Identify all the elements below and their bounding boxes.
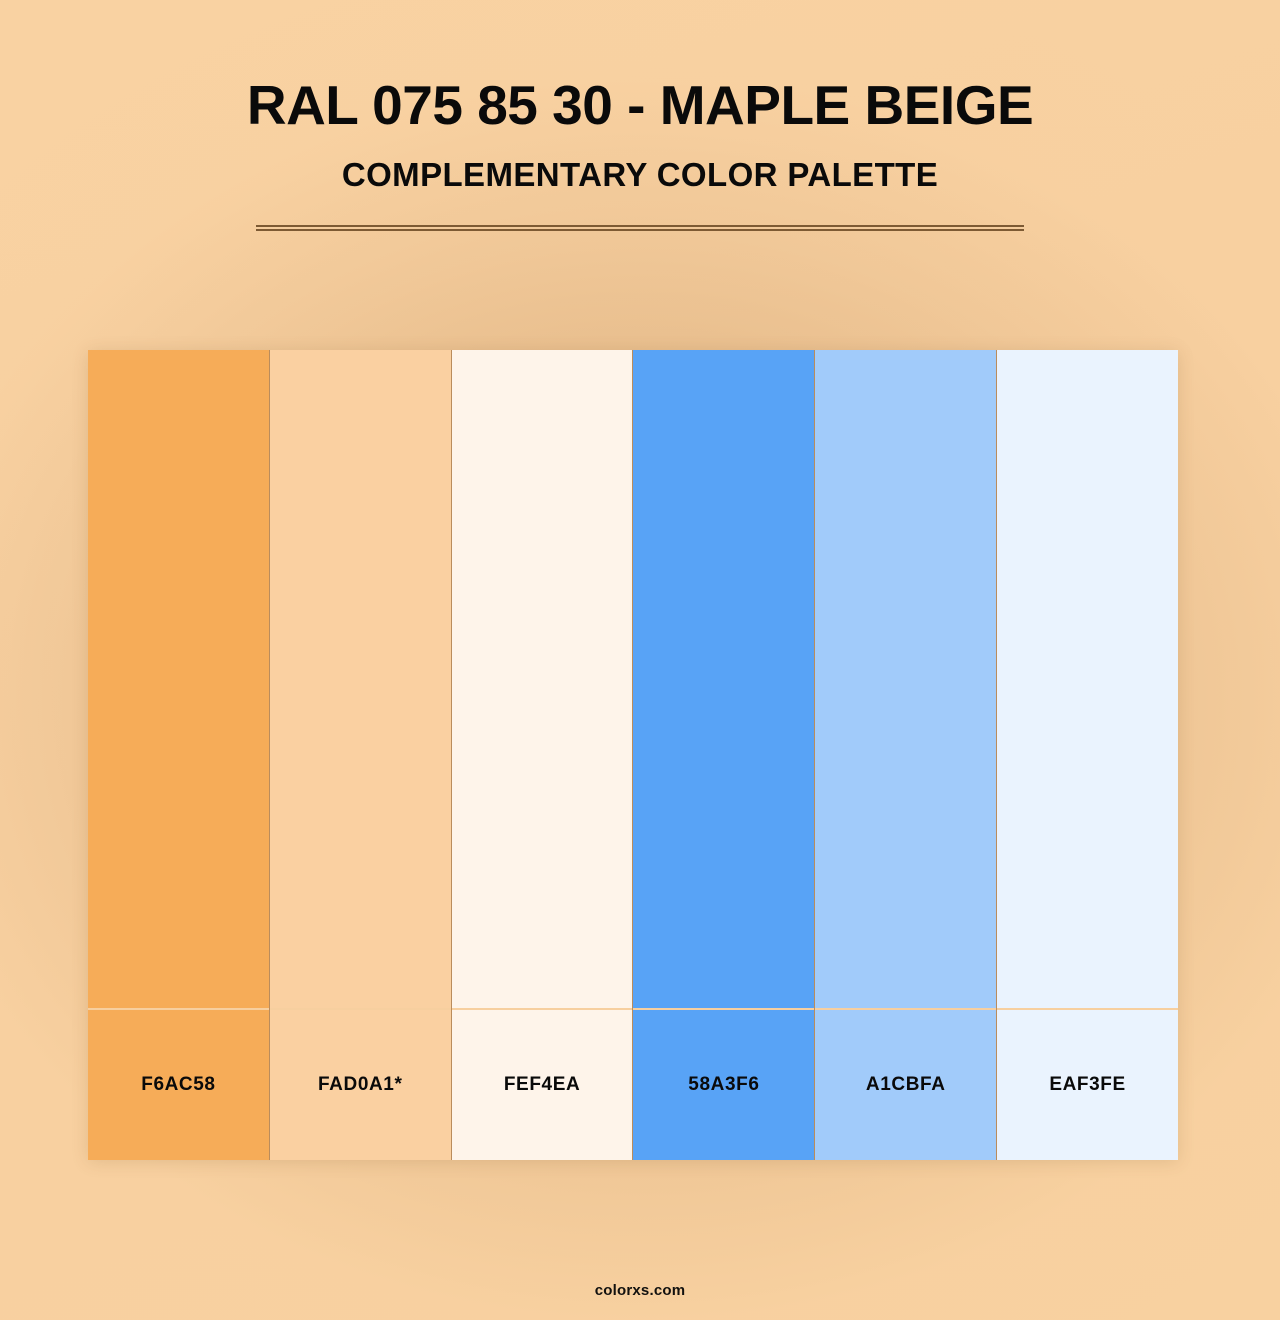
swatch-label-band[interactable]: A1CBFA [815,1010,996,1160]
color-swatch-column[interactable]: EAF3FE [997,350,1178,1160]
color-palette-board: F6AC58FAD0A1*FEF4EA58A3F6A1CBFAEAF3FE [88,350,1178,1160]
swatch-hex-label: EAF3FE [1049,1074,1125,1096]
color-swatch-column[interactable]: F6AC58 [88,350,270,1160]
swatch-hex-label: F6AC58 [141,1074,215,1096]
color-swatch[interactable] [88,350,269,1008]
color-swatch[interactable] [270,350,451,1008]
swatch-label-band[interactable]: 58A3F6 [633,1010,814,1160]
color-swatch-column[interactable]: FAD0A1* [270,350,452,1160]
swatch-label-band[interactable]: FEF4EA [452,1010,633,1160]
swatch-hex-label: FEF4EA [504,1074,580,1096]
color-swatch[interactable] [997,350,1178,1008]
swatch-label-band[interactable]: EAF3FE [997,1010,1178,1160]
color-swatch-column[interactable]: FEF4EA [452,350,634,1160]
color-swatch[interactable] [815,350,996,1008]
page-title: RAL 075 85 30 - MAPLE BEIGE [0,0,1280,136]
page-subtitle: COMPLEMENTARY COLOR PALETTE [0,136,1280,194]
brand-watermark: colorxs.com [595,1282,686,1299]
color-swatch[interactable] [452,350,633,1008]
color-swatch-column[interactable]: 58A3F6 [633,350,815,1160]
color-swatch[interactable] [633,350,814,1008]
page-header: RAL 075 85 30 - MAPLE BEIGE COMPLEMENTAR… [0,0,1280,231]
title-divider [256,225,1024,231]
page-footer: colorxs.com [0,1282,1280,1300]
swatch-label-band[interactable]: F6AC58 [88,1010,269,1160]
swatch-hex-label: FAD0A1* [318,1074,402,1096]
swatch-hex-label: A1CBFA [866,1074,946,1096]
palette-page: RAL 075 85 30 - MAPLE BEIGE COMPLEMENTAR… [0,0,1280,1320]
swatch-label-band[interactable]: FAD0A1* [270,1010,451,1160]
color-swatch-column[interactable]: A1CBFA [815,350,997,1160]
swatch-hex-label: 58A3F6 [688,1074,759,1096]
